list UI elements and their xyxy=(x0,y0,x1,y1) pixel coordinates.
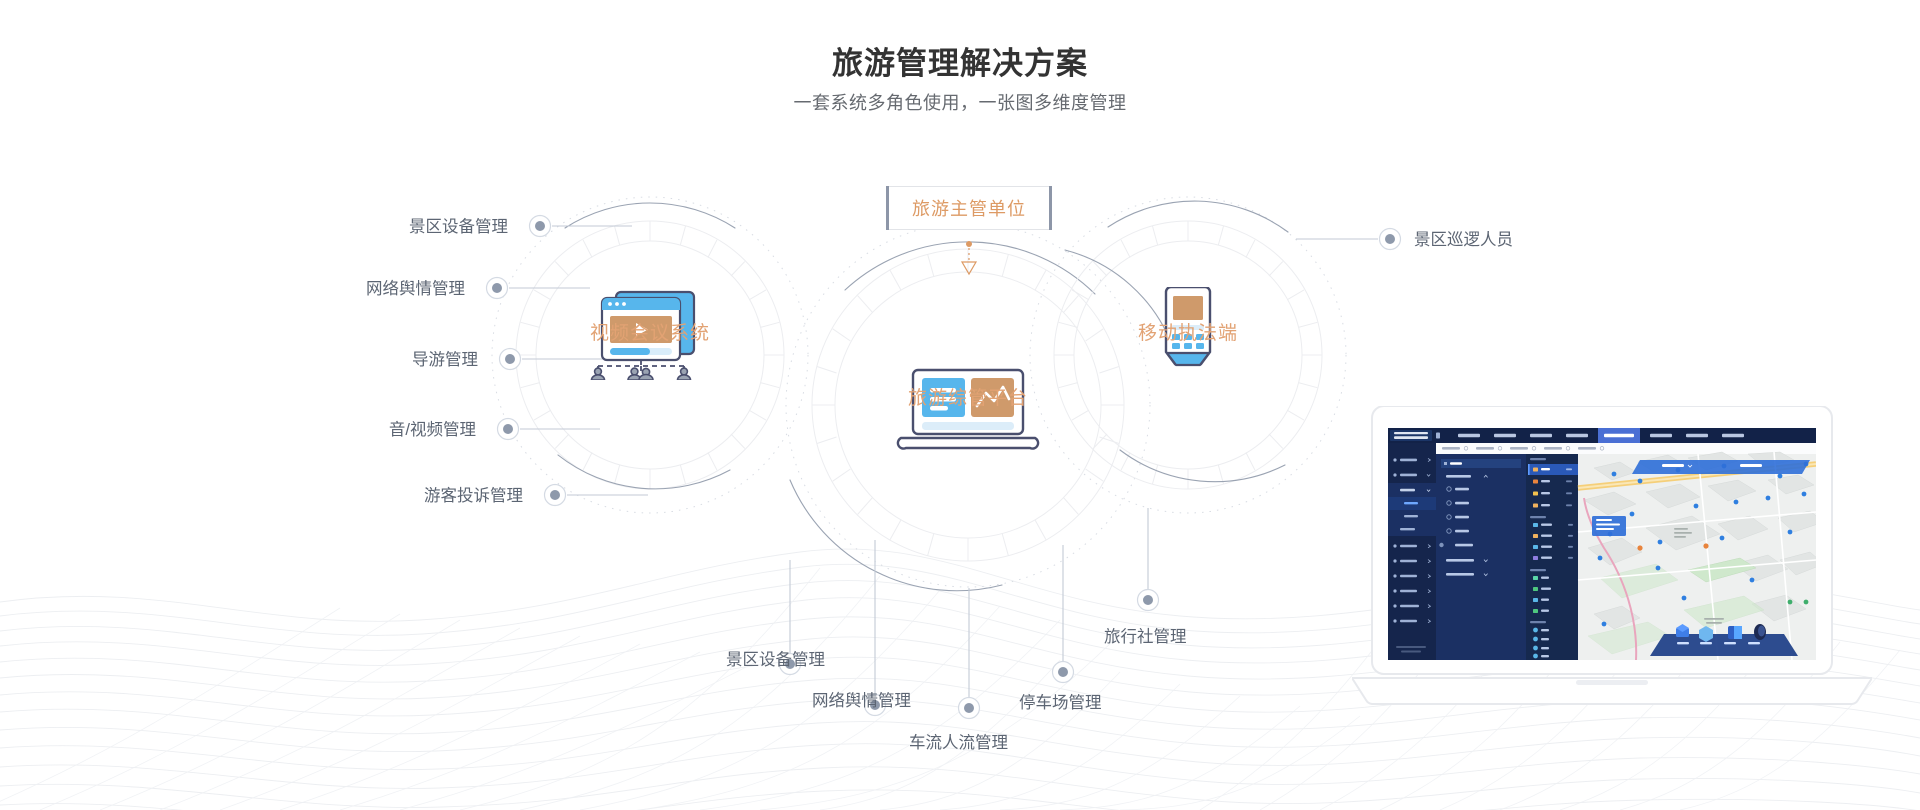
corner-accent-bottom-right xyxy=(1049,204,1052,230)
cluster-caption-tourism-platform: 旅游综管平台 xyxy=(868,383,1068,410)
node-dot xyxy=(500,349,521,370)
authority-box[interactable]: 旅游主管单位 xyxy=(886,186,1052,230)
corner-accent-bottom-left xyxy=(886,204,889,230)
laptop-product-mockup xyxy=(1352,406,1872,711)
bottom-connector-lines xyxy=(790,508,1148,698)
cluster-caption-video-conference: 视频会议系统 xyxy=(550,318,750,345)
label-bottom-0[interactable]: 景区设备管理 xyxy=(726,652,825,669)
solution-diagram-page: 旅游管理解决方案 一套系统多角色使用，一张图多维度管理 xyxy=(0,0,1920,810)
page-subtitle: 一套系统多角色使用，一张图多维度管理 xyxy=(0,89,1920,115)
node-dot xyxy=(530,216,551,237)
cluster-caption-mobile-enforcement: 移动执法端 xyxy=(1088,318,1288,345)
label-bottom-1[interactable]: 网络舆情管理 xyxy=(812,693,911,710)
node-dot xyxy=(1380,229,1401,250)
authority-label: 旅游主管单位 xyxy=(912,195,1026,221)
label-left-4[interactable]: 游客投诉管理 xyxy=(303,488,523,505)
label-left-1[interactable]: 网络舆情管理 xyxy=(245,281,465,298)
laptop-dashboard-icon[interactable] xyxy=(895,368,1041,457)
node-dot xyxy=(959,698,980,719)
label-left-2[interactable]: 导游管理 xyxy=(258,352,478,369)
authority-connector xyxy=(962,241,976,274)
node-dot xyxy=(1138,590,1159,611)
label-bottom-2[interactable]: 车流人流管理 xyxy=(909,735,1008,752)
label-left-0[interactable]: 景区设备管理 xyxy=(288,219,508,236)
label-bottom-4[interactable]: 旅行社管理 xyxy=(1104,629,1187,646)
node-dot xyxy=(1053,662,1074,683)
node-dot xyxy=(487,278,508,299)
label-right-0[interactable]: 景区巡逻人员 xyxy=(1414,232,1513,249)
node-dot xyxy=(498,419,519,440)
label-left-3[interactable]: 音/视频管理 xyxy=(256,422,476,439)
label-bottom-3[interactable]: 停车场管理 xyxy=(1019,695,1102,712)
page-title: 旅游管理解决方案 xyxy=(0,38,1920,83)
node-dot xyxy=(545,485,566,506)
